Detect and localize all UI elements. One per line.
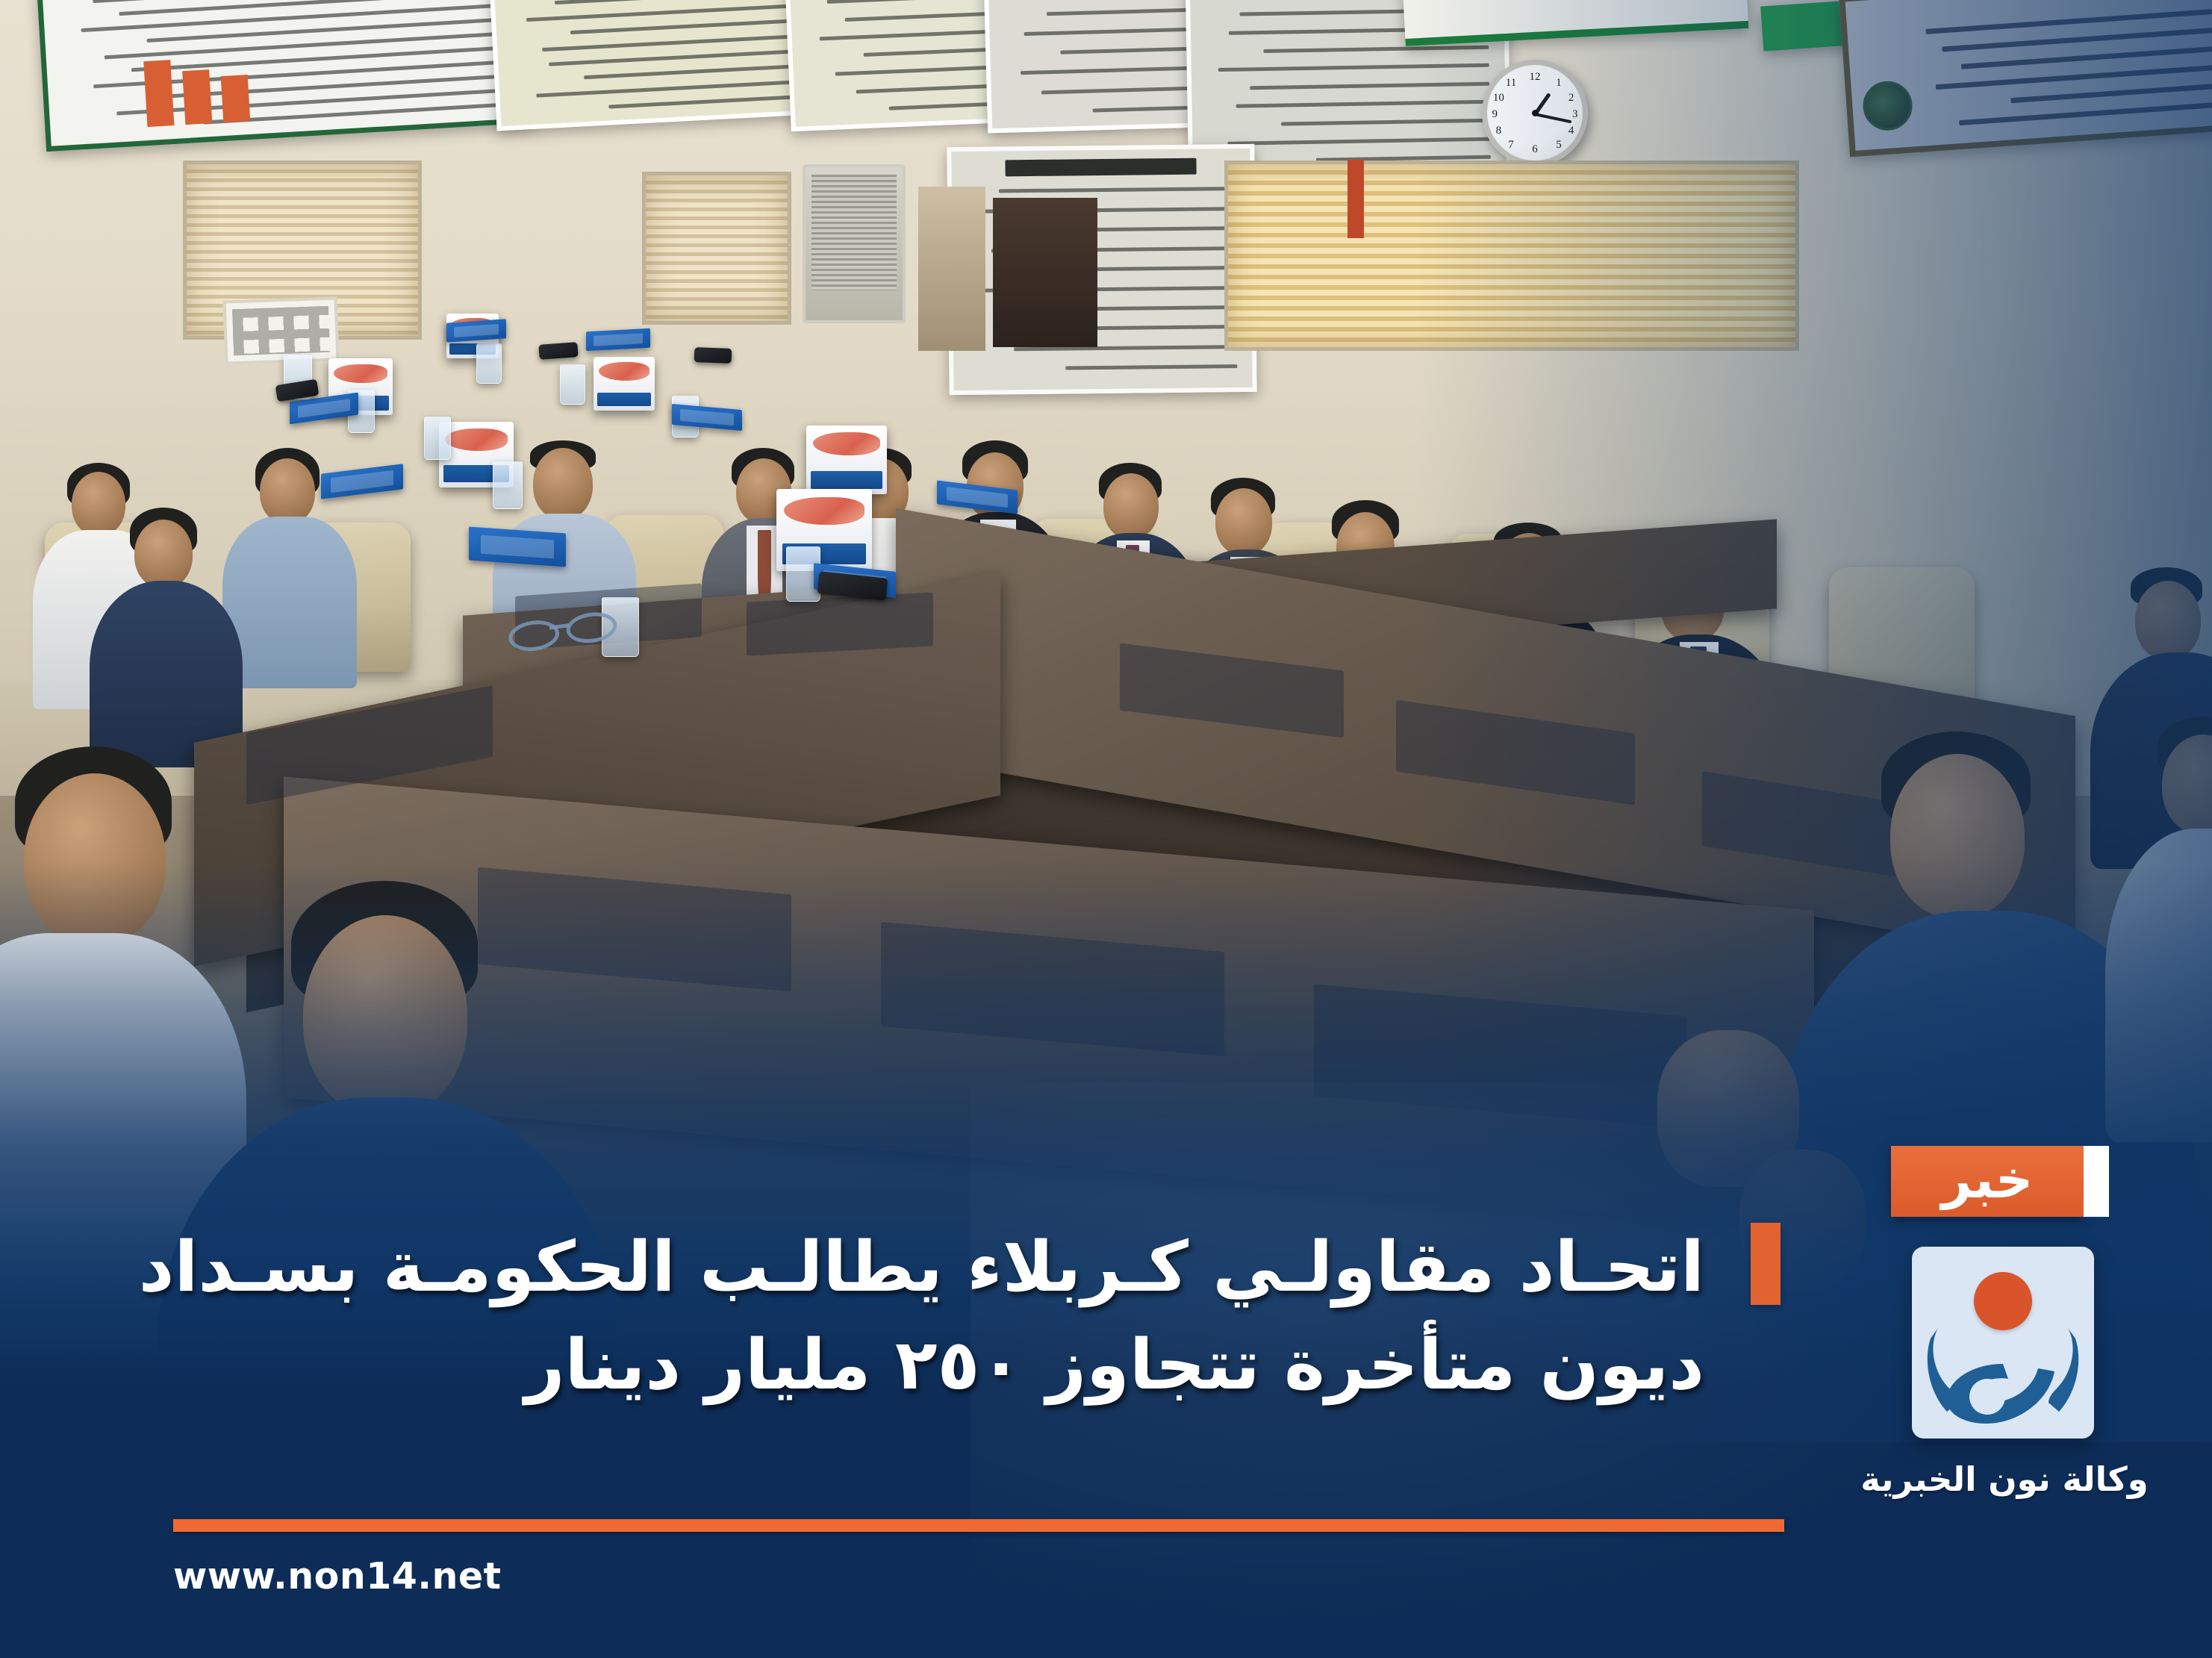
sign-header-band xyxy=(1005,158,1196,177)
sign-text-lines xyxy=(66,0,503,132)
water-glass xyxy=(493,461,523,509)
wall-clock-icon: 12 1 2 3 4 5 6 7 8 9 10 11 xyxy=(1482,60,1588,166)
clock-center-pin xyxy=(1532,110,1539,116)
news-badge-white-tail xyxy=(2084,1146,2109,1217)
water-glass xyxy=(424,417,451,460)
dark-doorway xyxy=(993,198,1097,347)
news-badge-label: خبر xyxy=(1942,1153,2034,1206)
wall-sign-constitution xyxy=(1839,0,2212,157)
noon-logo-mark-icon xyxy=(1925,1325,2081,1424)
bar-chart-decoration xyxy=(143,54,250,127)
clock-minute-hand xyxy=(1535,113,1572,123)
agency-name: وكالة نون الخبرية xyxy=(1814,1459,2195,1499)
desk-pad xyxy=(747,592,933,655)
window-blinds-center xyxy=(642,172,791,325)
blue-brochure xyxy=(469,526,566,567)
sign-text-lines xyxy=(510,0,805,113)
iraq-emblem-icon xyxy=(1861,80,1913,132)
tissue-box xyxy=(806,426,887,494)
headline: اتحـاد مقاولـي كـربلاء يطالـب الحكومـة ب… xyxy=(122,1221,1704,1411)
water-glass xyxy=(476,343,502,384)
blue-brochure xyxy=(586,328,650,352)
wall-picture-frame xyxy=(223,296,340,364)
window-blinds-right xyxy=(1224,160,1799,351)
wall-sign-b xyxy=(489,0,826,131)
orange-divider xyxy=(173,1519,1784,1532)
tissue-box xyxy=(593,357,655,411)
website-url[interactable]: www.non14.net xyxy=(173,1555,502,1598)
water-glass xyxy=(560,364,585,405)
headline-line-1: اتحـاد مقاولـي كـربلاء يطالـب الحكومـة ب… xyxy=(122,1221,1704,1313)
logo-orange-dot-icon xyxy=(1974,1272,2032,1330)
mobile-phone xyxy=(694,347,732,364)
air-conditioner-unit xyxy=(803,164,906,323)
wall-panel xyxy=(918,187,985,351)
mobile-phone xyxy=(538,342,578,360)
headline-line-2: ديون متأخرة تتجاوز ٢٥٠ مليار دينار xyxy=(122,1319,1704,1411)
news-graphic-canvas: 12 1 2 3 4 5 6 7 8 9 10 11 xyxy=(0,0,2212,1658)
sign-text-lines xyxy=(1917,9,2212,128)
headline-accent-bar xyxy=(1751,1223,1780,1305)
agency-logo[interactable] xyxy=(1912,1247,2094,1439)
news-badge: خبر xyxy=(1891,1146,2084,1217)
